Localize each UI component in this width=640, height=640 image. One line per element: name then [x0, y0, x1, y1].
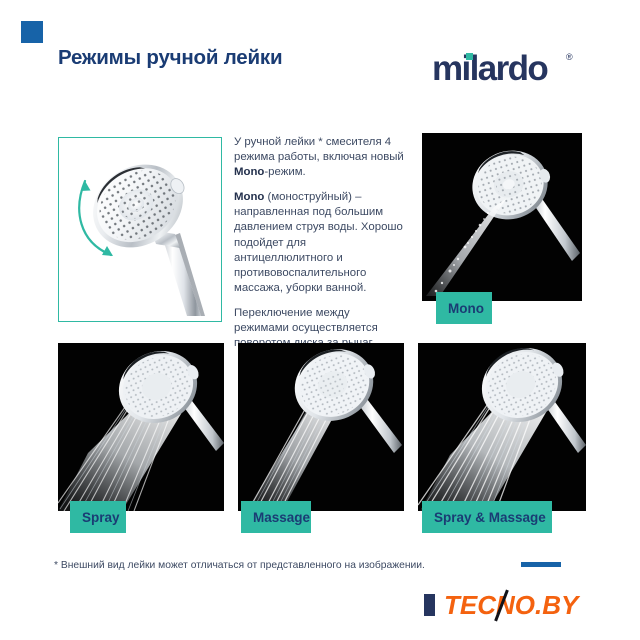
panel-massage [238, 343, 404, 511]
badge-mono-label: Mono [448, 301, 484, 316]
copy-p2-post: (моноструйный) – направленная под больши… [234, 191, 403, 294]
tecno-by-logo-text: TECNO.BY [444, 588, 578, 622]
copy-p1-bold: Mono [234, 166, 264, 178]
page-title: Режимы ручной лейки [58, 46, 282, 70]
brand-square-icon [21, 21, 43, 43]
panel-spray-massage [418, 343, 586, 511]
badge-spray-massage: Spray & Massage [422, 501, 552, 533]
badge-mono: Mono [436, 292, 492, 324]
copy-p2-bold: Mono [234, 191, 264, 203]
registered-trademark-icon: ® [566, 52, 573, 62]
badge-massage-label: Massage [253, 510, 310, 525]
footnote: * Внешний вид лейки может отличаться от … [54, 560, 425, 571]
copy-p1-post: -режим. [264, 166, 305, 178]
panel-rotation [58, 137, 222, 322]
tecno-by-logo: TECNO.BY [424, 588, 624, 624]
badge-spray-label: Spray [82, 510, 120, 525]
tecno-by-square-icon [424, 594, 435, 616]
badge-spray-massage-label: Spray & Massage [434, 510, 546, 525]
copy-p1-pre: У ручной лейки * смесителя 4 режима рабо… [234, 136, 404, 163]
panel-spray [58, 343, 224, 511]
copy-paragraph-2: Mono (моноструйный) – направленная под б… [234, 190, 404, 296]
milardo-logo-text: milardo [432, 50, 547, 88]
milardo-logo-dot-icon [466, 53, 473, 60]
milardo-logo: milardo ® [432, 50, 592, 92]
poster-canvas: Режимы ручной лейки milardo ® [0, 0, 640, 640]
panel-mono [422, 133, 582, 301]
badge-spray: Spray [70, 501, 126, 533]
mono-mode-illustration [422, 133, 582, 301]
spray-mode-illustration [58, 343, 224, 511]
shower-head-rotation-illustration [59, 138, 222, 322]
footer-accent-bar [521, 562, 561, 567]
description-copy: У ручной лейки * смесителя 4 режима рабо… [234, 135, 404, 361]
massage-mode-illustration [238, 343, 404, 511]
copy-paragraph-1: У ручной лейки * смесителя 4 режима рабо… [234, 135, 404, 180]
badge-massage: Massage [241, 501, 311, 533]
spray-massage-mode-illustration [418, 343, 586, 511]
